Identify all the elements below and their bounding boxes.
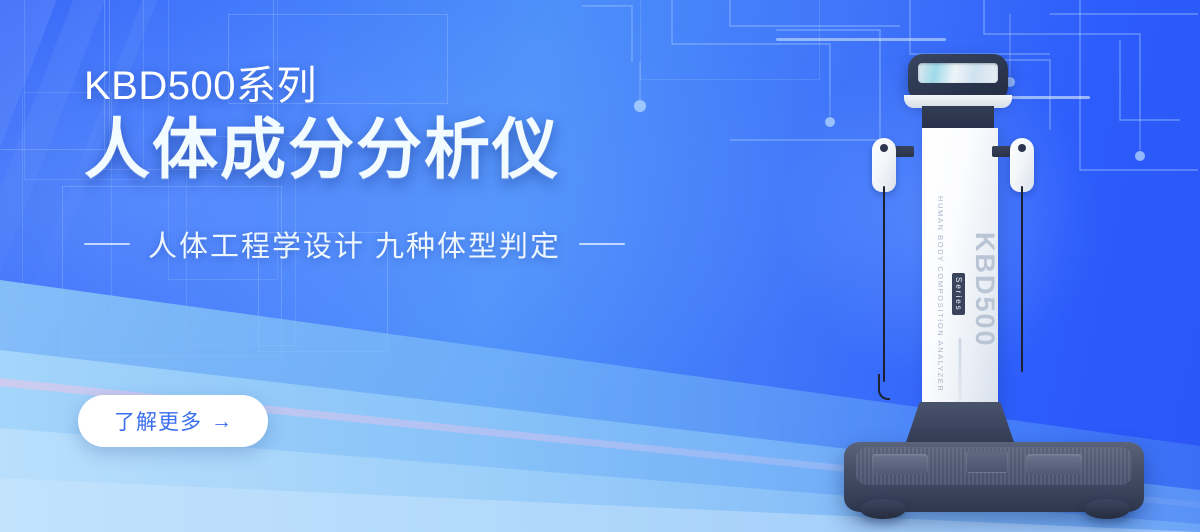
platform-center-panel — [966, 451, 1008, 473]
arrow-right-icon: → — [211, 411, 232, 432]
hand-electrode-right — [1010, 130, 1034, 192]
subtitle-dash-left-icon — [84, 243, 130, 245]
electrode-cable-right — [1021, 186, 1023, 372]
foot-electrode-left — [872, 454, 928, 474]
device-brand-name: KBD500 — [971, 232, 998, 348]
subtitle-dash-right-icon — [579, 243, 625, 245]
device-screen — [918, 63, 998, 83]
page-title: 人体成分分析仪 — [84, 113, 724, 187]
body-composition-analyzer-image: KBD500 Series HUMAN BODY COMPOSITION ANA… — [838, 44, 1168, 524]
foot-electrode-right — [1026, 454, 1082, 474]
platform-foot-left — [860, 499, 906, 519]
hero-subtitle-row: 人体工程学设计 九种体型判定 — [84, 223, 724, 265]
electrode-cable-left-bend — [878, 374, 890, 400]
hero-copy-block: KBD500系列 人体成分分析仪 人体工程学设计 九种体型判定 — [84, 64, 724, 265]
hand-electrode-left — [872, 130, 896, 192]
product-hero-banner: KBD500 Series HUMAN BODY COMPOSITION ANA… — [0, 0, 1200, 532]
learn-more-button[interactable]: 了解更多 → — [78, 395, 268, 447]
electrode-cable-left — [883, 186, 885, 382]
product-series-title: KBD500系列 — [84, 64, 724, 109]
hero-subtitle: 人体工程学设计 九种体型判定 — [148, 223, 561, 265]
device-brand-subtitle: HUMAN BODY COMPOSITION ANALYZER — [936, 196, 945, 392]
platform-foot-right — [1084, 499, 1130, 519]
device-column-accent-line — [959, 338, 962, 412]
device-series-badge: Series — [952, 273, 965, 316]
device-column: KBD500 Series HUMAN BODY COMPOSITION ANA… — [922, 128, 998, 428]
learn-more-label: 了解更多 — [114, 406, 202, 436]
